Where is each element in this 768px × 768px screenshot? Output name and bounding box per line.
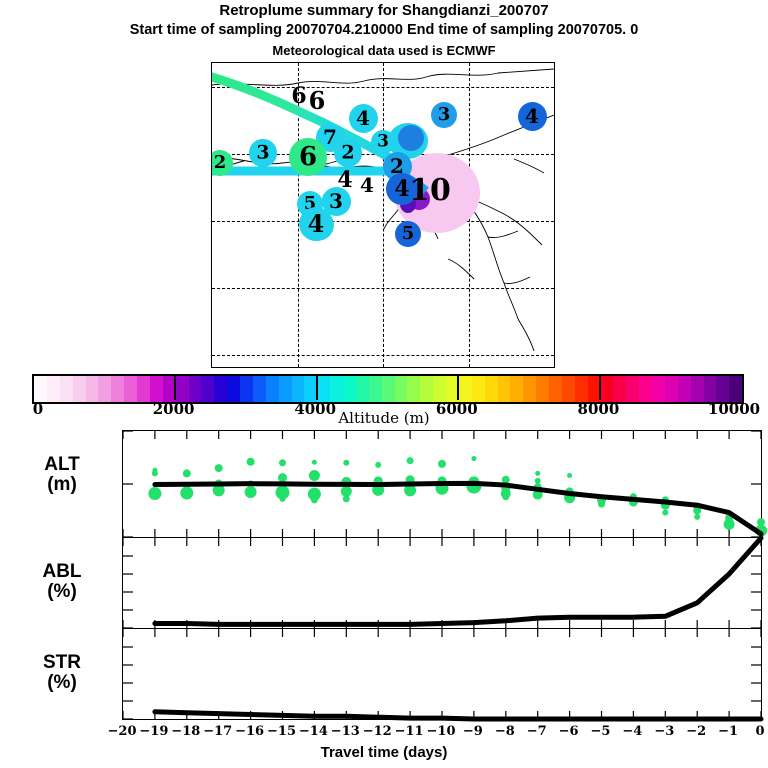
colorbar-swatch — [60, 376, 73, 402]
alt-scatter-point — [567, 473, 572, 478]
x-axis-tick-label: −2 — [686, 724, 706, 739]
colorbar-swatch — [266, 376, 279, 402]
colorbar-swatch — [330, 376, 343, 402]
alt-scatter-point — [148, 487, 161, 500]
colorbar-swatch — [678, 376, 691, 402]
map-marker-label: 6 — [309, 89, 326, 113]
colorbar-swatch — [176, 376, 189, 402]
colorbar-swatch — [652, 376, 665, 402]
alt-scatter-point — [278, 473, 287, 482]
alt-scatter-point — [341, 486, 352, 497]
map-marker-label: 5 — [402, 225, 415, 243]
map-marker-label: 3 — [377, 134, 389, 151]
alt-scatter-point — [311, 496, 318, 503]
x-axis-tick-label: −17 — [203, 724, 232, 739]
alt-scatter-point — [471, 456, 476, 461]
altitude-colorbar — [32, 374, 744, 404]
figure-title: Retroplume summary for Shangdianzi_20070… — [0, 2, 768, 19]
plume-trajectory — [212, 63, 554, 367]
alt-scatter-point — [535, 471, 540, 476]
colorbar-swatch — [356, 376, 369, 402]
colorbar-swatch — [189, 376, 202, 402]
alt-scatter-point — [279, 459, 286, 466]
str-panel: 020406080 — [122, 628, 762, 720]
alt-scatter-point — [343, 495, 350, 502]
alt-scatter-point — [407, 457, 414, 464]
colorbar-swatch — [472, 376, 485, 402]
map-marker-label: 2 — [341, 144, 354, 163]
colorbar-swatch — [729, 376, 742, 402]
colorbar-swatch — [691, 376, 704, 402]
alt-scatter-point — [215, 464, 223, 472]
colorbar-swatch — [575, 376, 588, 402]
colorbar-swatch — [716, 376, 729, 402]
pSTR-trend-line — [155, 712, 761, 719]
colorbar-swatch — [536, 376, 549, 402]
pALT-plot — [123, 431, 761, 537]
x-axis-tick-label: −9 — [463, 724, 483, 739]
colorbar-swatch — [523, 376, 536, 402]
alt-scatter-point — [694, 514, 700, 520]
colorbar-swatch — [137, 376, 150, 402]
colorbar-title: Altitude (m) — [0, 409, 768, 427]
alt-scatter-point — [183, 469, 191, 477]
colorbar-swatch — [343, 376, 356, 402]
map-marker-label: 3 — [329, 191, 343, 211]
alt-scatter-point — [280, 496, 286, 502]
colorbar-separator — [316, 374, 318, 400]
x-axis-tick-label: −7 — [527, 724, 547, 739]
sampling-time-subtitle: Start time of sampling 20070704.210000 E… — [0, 22, 768, 38]
colorbar-swatch — [562, 376, 575, 402]
map-marker-label: 6 — [291, 85, 306, 107]
x-axis-tick-label: −13 — [331, 724, 360, 739]
alt-scatter-point — [312, 460, 317, 465]
alt-scatter-point — [247, 458, 255, 466]
colorbar-swatch — [665, 376, 678, 402]
colorbar-swatch — [317, 376, 330, 402]
colorbar-swatch — [201, 376, 214, 402]
colorbar-swatch — [73, 376, 86, 402]
alt-panel: 0500010000 — [122, 430, 762, 538]
retroplume-map: 667434233622444105345 — [211, 62, 555, 368]
colorbar-swatch — [240, 376, 253, 402]
map-marker-label: 3 — [438, 106, 451, 124]
colorbar-swatch — [34, 376, 47, 402]
pABL-trend-line — [155, 538, 761, 624]
map-marker-label: 2 — [214, 154, 227, 172]
map-marker-label: 4 — [308, 212, 325, 236]
map-marker-label: 3 — [256, 144, 269, 163]
alt-scatter-point — [502, 493, 509, 500]
alt-scatter-point — [757, 518, 765, 526]
alt-scatter-point — [309, 470, 320, 481]
alt-scatter-point — [662, 510, 668, 516]
x-axis-tick-label: −12 — [363, 724, 392, 739]
map-marker-label: 7 — [323, 127, 337, 147]
map-marker-label: 10 — [409, 176, 451, 206]
colorbar-swatch — [150, 376, 163, 402]
colorbar-swatch — [47, 376, 60, 402]
abl-panel-title: ABL(%) — [8, 562, 116, 602]
colorbar-swatch — [279, 376, 292, 402]
colorbar-swatch — [98, 376, 111, 402]
alt-scatter-point — [438, 460, 446, 468]
x-axis-tick-label: −1 — [718, 724, 738, 739]
colorbar-swatch — [626, 376, 639, 402]
colorbar-swatch — [433, 376, 446, 402]
colorbar-swatch — [485, 376, 498, 402]
x-axis-tick-label: −20 — [108, 724, 137, 739]
x-axis-tick-label: −15 — [267, 724, 296, 739]
map-marker-label: 4 — [356, 108, 370, 128]
colorbar-swatch — [407, 376, 420, 402]
colorbar-swatch — [369, 376, 382, 402]
colorbar-swatch — [227, 376, 240, 402]
colorbar-swatch — [498, 376, 511, 402]
colorbar-swatch — [395, 376, 408, 402]
colorbar-swatch — [704, 376, 717, 402]
colorbar-swatch — [639, 376, 652, 402]
map-marker-label: 4 — [394, 178, 409, 200]
colorbar-swatch — [124, 376, 137, 402]
x-axis-tick-label: −10 — [427, 724, 456, 739]
alt-scatter-point — [535, 478, 541, 484]
map-marker-label: 4 — [525, 106, 539, 126]
colorbar-separator — [457, 374, 459, 400]
x-axis-tick-label: −16 — [235, 724, 264, 739]
x-axis-title: Travel time (days) — [0, 744, 768, 761]
alt-scatter-point — [343, 460, 349, 466]
x-axis-tick-label: 0 — [755, 724, 764, 739]
colorbar-swatch — [382, 376, 395, 402]
colorbar-swatch — [510, 376, 523, 402]
map-marker-label: 4 — [360, 175, 374, 195]
x-axis-tick-label: −18 — [171, 724, 200, 739]
colorbar-swatch — [292, 376, 305, 402]
colorbar-swatch — [86, 376, 99, 402]
colorbar-swatch — [613, 376, 626, 402]
colorbar-swatch — [420, 376, 433, 402]
colorbar-separator — [174, 374, 176, 400]
colorbar-swatch — [459, 376, 472, 402]
x-axis-tick-label: −5 — [591, 724, 611, 739]
x-axis-tick-label: −6 — [559, 724, 579, 739]
str-panel-title: STR(%) — [8, 653, 116, 693]
pABL-plot — [123, 538, 761, 628]
colorbar-swatch — [549, 376, 562, 402]
x-axis-tick-label: −11 — [395, 724, 424, 739]
colorbar-separator — [599, 374, 601, 400]
x-axis-tick-label: −4 — [622, 724, 642, 739]
x-axis-tick-label: −8 — [495, 724, 515, 739]
colorbar-swatch — [111, 376, 124, 402]
x-axis-tick-label: −3 — [654, 724, 674, 739]
abl-panel: 020406080 — [122, 537, 762, 629]
colorbar-swatch — [253, 376, 266, 402]
alt-panel-title: ALT(m) — [8, 455, 116, 495]
x-axis-tick-label: −14 — [299, 724, 328, 739]
colorbar-swatch — [214, 376, 227, 402]
alt-scatter-point — [152, 468, 157, 473]
map-marker-label: 6 — [299, 144, 317, 170]
alt-scatter-point — [245, 486, 257, 498]
alt-scatter-point — [598, 501, 605, 508]
pSTR-plot — [123, 629, 761, 719]
met-data-subtitle: Meteorological data used is ECMWF — [0, 43, 768, 58]
alt-scatter-point — [375, 462, 381, 468]
x-axis-tick-label: −19 — [139, 724, 168, 739]
colorbar-swatch — [601, 376, 614, 402]
